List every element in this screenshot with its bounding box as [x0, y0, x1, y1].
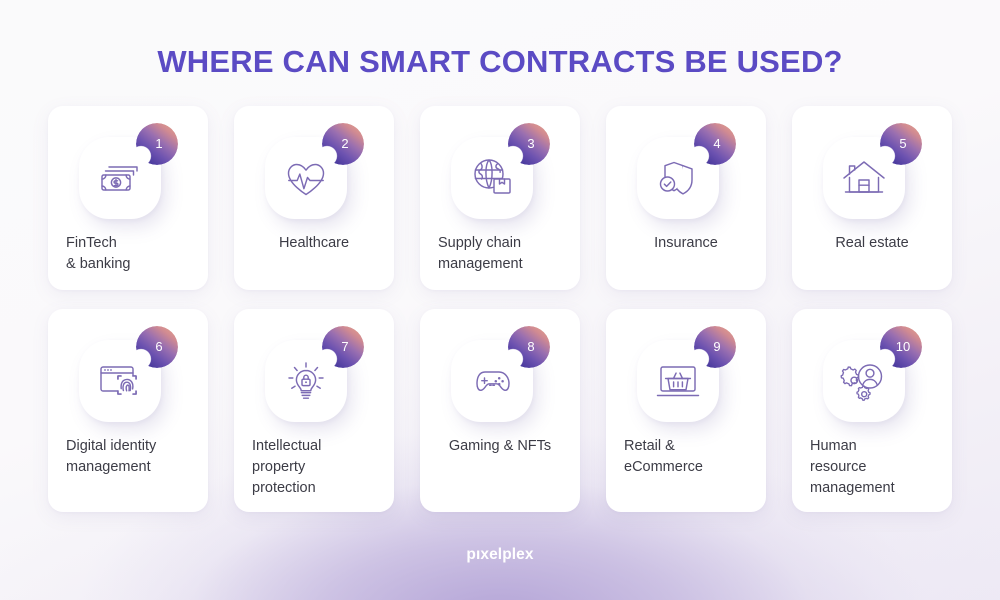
- card-number-badge: 5: [880, 123, 922, 165]
- heart-pulse-icon: [282, 154, 330, 202]
- laptop-basket-icon: [654, 357, 702, 405]
- card-number-badge: 8: [508, 326, 550, 368]
- card-label: Intellectualpropertyprotection: [252, 436, 394, 499]
- card-number-badge: 4: [694, 123, 736, 165]
- card-label: Digital identitymanagement: [66, 436, 208, 478]
- use-case-card-7[interactable]: 7 Intellectualpropertyprotection: [234, 309, 394, 512]
- card-number-badge: 10: [880, 326, 922, 368]
- house-icon: [840, 154, 888, 202]
- card-label: Humanresourcemanagement: [810, 436, 952, 499]
- banknote-dollar-icon: [96, 154, 144, 202]
- shield-check-icon: [654, 154, 702, 202]
- use-case-card-4[interactable]: 4 Insurance: [606, 106, 766, 290]
- lightbulb-lock-icon: [282, 357, 330, 405]
- card-label: Supply chainmanagement: [438, 233, 580, 275]
- icon-block: 7: [265, 326, 361, 422]
- infographic-canvas: WHERE CAN SMART CONTRACTS BE USED?: [0, 0, 1000, 600]
- icon-block: 1: [79, 123, 175, 219]
- icon-block: 2: [265, 123, 361, 219]
- card-number-badge: 9: [694, 326, 736, 368]
- gears-person-icon: [840, 357, 888, 405]
- use-case-card-10[interactable]: 10 Humanresourcemanagement: [792, 309, 952, 512]
- card-label: Retail &eCommerce: [624, 436, 766, 478]
- card-number-badge: 2: [322, 123, 364, 165]
- use-case-card-3[interactable]: 3 Supply chainmanagement: [420, 106, 580, 290]
- use-case-card-6[interactable]: 6 Digital identitymanagement: [48, 309, 208, 512]
- card-label: Healthcare: [234, 233, 394, 254]
- icon-block: 5: [823, 123, 919, 219]
- card-number-badge: 6: [136, 326, 178, 368]
- card-label: Insurance: [606, 233, 766, 254]
- card-number-badge: 1: [136, 123, 178, 165]
- icon-block: 6: [79, 326, 175, 422]
- icon-block: 10: [823, 326, 919, 422]
- card-label: Real estate: [792, 233, 952, 254]
- icon-block: 9: [637, 326, 733, 422]
- card-number-badge: 7: [322, 326, 364, 368]
- gamepad-icon: [468, 357, 516, 405]
- use-case-card-8[interactable]: 8 Gaming & NFTs: [420, 309, 580, 512]
- card-number-badge: 3: [508, 123, 550, 165]
- browser-fingerprint-icon: [96, 357, 144, 405]
- use-case-card-1[interactable]: 1 FinTech& banking: [48, 106, 208, 290]
- use-case-card-9[interactable]: 9 Retail &eCommerce: [606, 309, 766, 512]
- use-case-card-2[interactable]: 2 Healthcare: [234, 106, 394, 290]
- icon-block: 4: [637, 123, 733, 219]
- icon-block: 3: [451, 123, 547, 219]
- globe-package-icon: [468, 154, 516, 202]
- icon-block: 8: [451, 326, 547, 422]
- page-title: WHERE CAN SMART CONTRACTS BE USED?: [0, 43, 1000, 81]
- card-label: FinTech& banking: [66, 233, 208, 275]
- pixelplex-logo: pıxelplex: [466, 546, 533, 563]
- card-label: Gaming & NFTs: [420, 436, 580, 457]
- use-case-grid: 1 FinTech& banking 2 Healthcare: [48, 106, 952, 512]
- footer: pıxelplex: [0, 546, 1000, 564]
- use-case-card-5[interactable]: 5 Real estate: [792, 106, 952, 290]
